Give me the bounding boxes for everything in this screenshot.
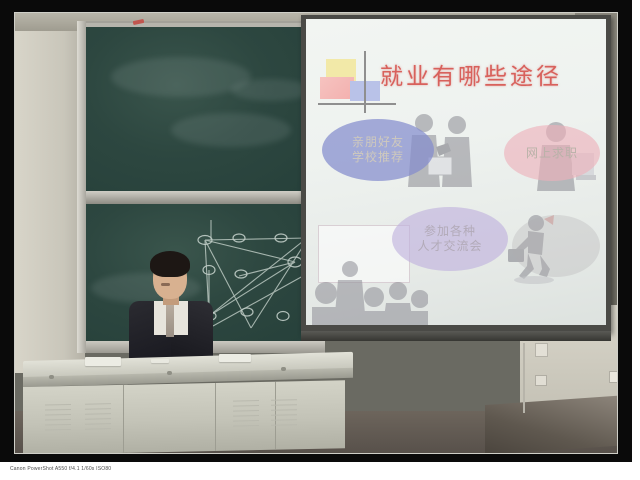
lectern-podium [23,351,353,454]
presenter-speaker [123,249,219,361]
presenter-tie [166,303,174,337]
photo-page: 就业有哪些途径 [0,0,640,480]
classroom-photograph: 就业有哪些途径 [14,12,618,454]
podium-knob-mid[interactable] [167,371,172,375]
wall-box-upper [535,343,548,357]
slide-title: 就业有哪些途径 [380,57,600,91]
blackboard-upper-panel [81,27,319,193]
projection-screen-bottom-bar [301,331,611,341]
slide-bubble-online-jobhunt: 网上求职 [504,125,600,181]
slide-bubble-blank [512,215,600,277]
podium-paper-right[interactable] [219,354,251,362]
projected-slide: 就业有哪些途径 [306,19,606,325]
podium-knob-right[interactable] [281,367,286,371]
bubble-fairs-line2: 人才交流会 [417,239,482,254]
presenter-mouth [161,283,170,286]
blackboard-middle-rail [77,191,325,204]
podium-paper-center[interactable] [151,359,169,363]
podium-front-panels [23,380,345,454]
slide-bubble-job-fairs: 参加各种 人才交流会 [392,207,508,271]
wall-switch [609,371,618,383]
slide-decor-square-pink [320,77,354,99]
slide-bubble-friends-family: 亲朋好友 学校推荐 [322,119,434,181]
podium-paper-left[interactable] [85,357,121,366]
clipart-meeting-audience [312,257,428,325]
floor-right [485,396,618,454]
bubble-online-line1: 网上求职 [526,146,578,161]
bubble-fairs-line1: 参加各种 [417,224,482,239]
bubble-friends-line2: 学校推荐 [352,150,404,165]
wall-conduit [523,343,525,413]
slide-decor-line-horizontal [318,103,396,105]
presenter-hair [150,251,190,277]
bubble-friends-line1: 亲朋好友 [352,135,404,150]
photo-exif-caption: Canon PowerShot A550 f/4.1 1/60s ISO80 [10,466,111,472]
blackboard-left-post [77,21,86,353]
wall-left [15,13,85,373]
podium-knob-left[interactable] [49,375,54,379]
wall-socket [535,375,547,386]
